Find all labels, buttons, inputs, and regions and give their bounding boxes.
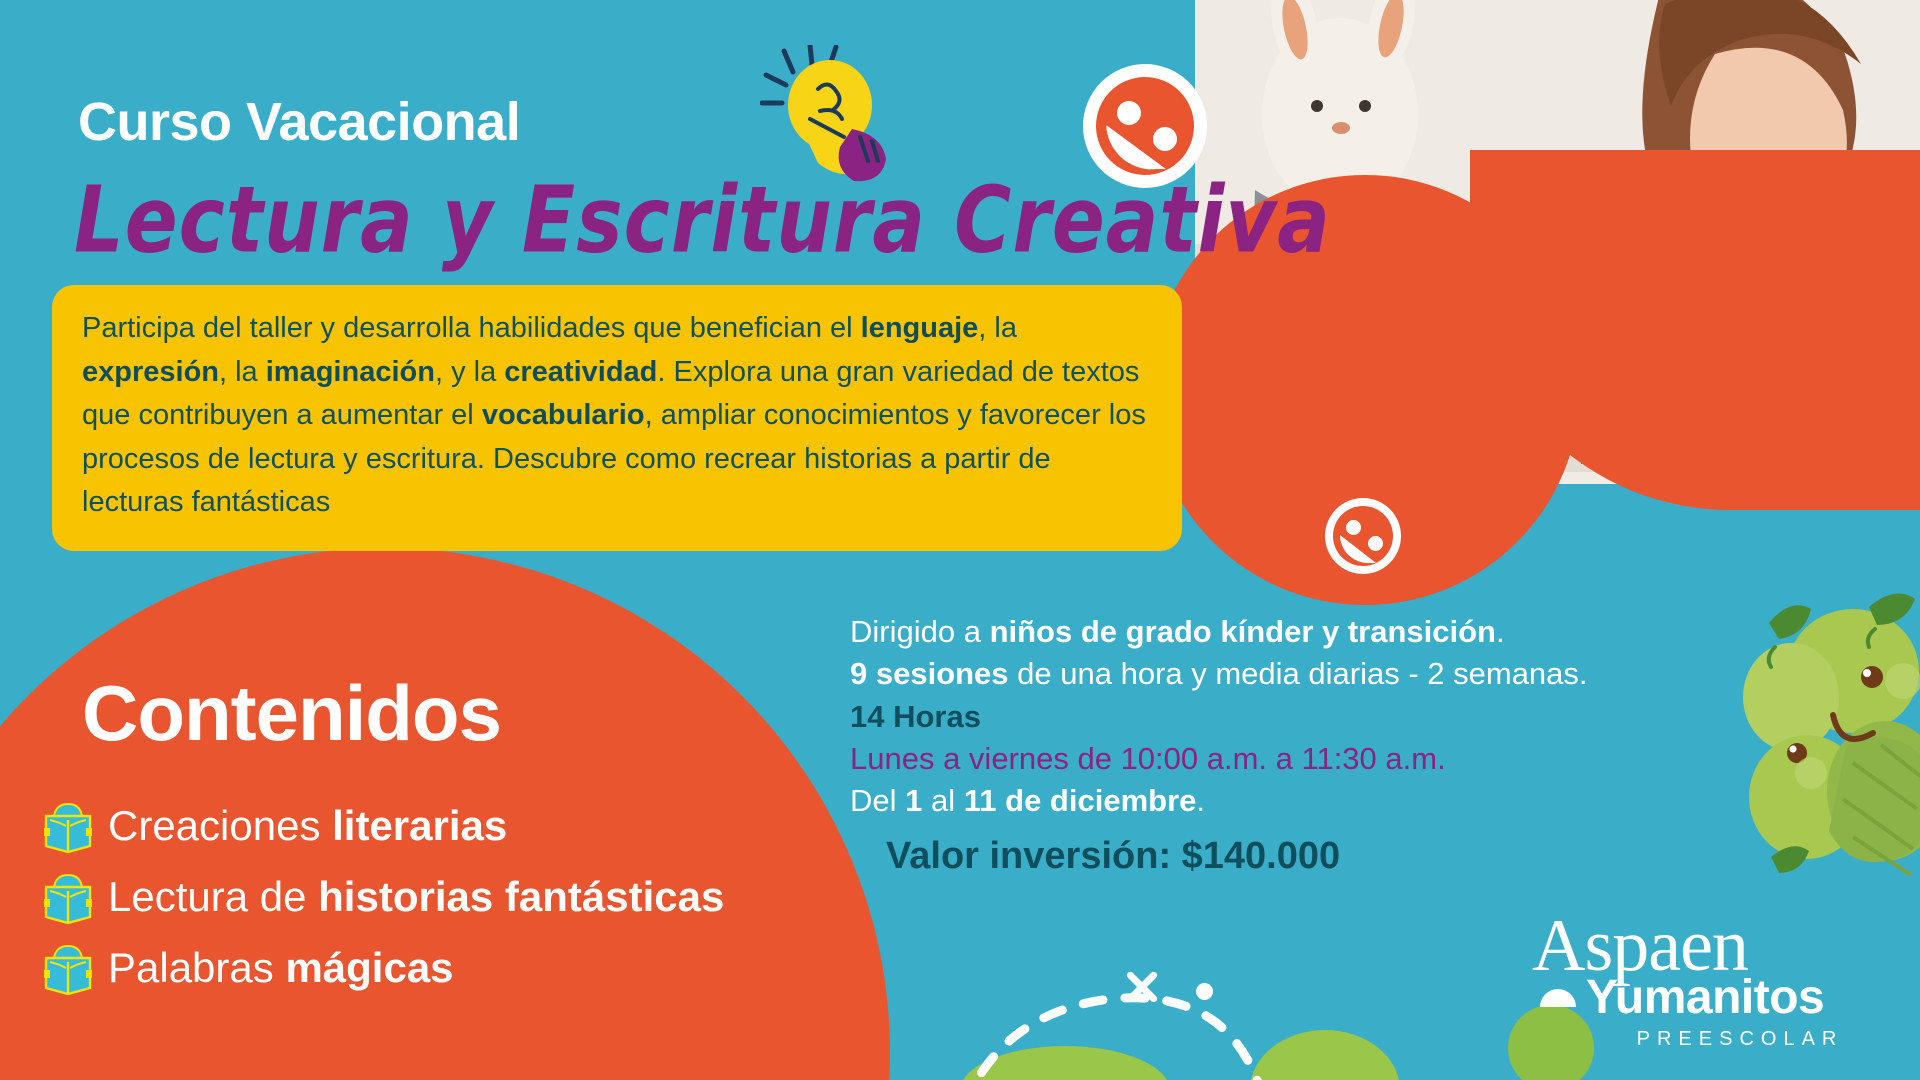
contenidos-heading: Contenidos [82,674,501,752]
detail-line-schedule: Lunes a viernes de 10:00 a.m. a 11:30 a.… [850,739,1770,779]
list-item-label: Palabras mágicas [108,947,454,989]
brand-tagline: PREESCOLAR [1532,1028,1882,1051]
green-character-mascot [1735,585,1920,885]
page-title: Lectura y Escritura Creativa [74,175,1331,267]
course-details: Dirigido a niños de grado kínder y trans… [850,612,1770,878]
price-label: Valor inversión: $140.000 [886,835,1770,878]
list-item: Lectura de historias fantásticas [42,866,902,928]
dashed-arc-decoration [940,975,1270,1080]
description-callout: Participa del taller y desarrolla habili… [52,285,1182,551]
detail-line-dates: Del 1 al 11 de diciembre. [850,781,1770,821]
detail-line-sessions: 9 sesiones de una hora y media diarias -… [850,654,1770,694]
lightbulb-icon [760,45,910,185]
open-book-icon [42,869,94,925]
list-item: Creaciones literarias [42,795,902,857]
brand-logo: Aspaen Yumanitos PREESCOLAR [1532,912,1882,1051]
half-circle-icon [1540,989,1576,1007]
detail-line-audience: Dirigido a niños de grado kínder y trans… [850,612,1770,652]
page-kicker: Curso Vacacional [78,95,520,149]
sparkle-dot-icon [1196,983,1213,1000]
contenidos-list: Creaciones literarias Lectura de histori… [42,795,902,1008]
green-shape-decoration [1250,1030,1400,1080]
list-item-label: Lectura de historias fantásticas [108,876,724,918]
open-book-icon [42,940,94,996]
open-book-icon [42,798,94,854]
description-text: Participa del taller y desarrolla habili… [82,307,1154,525]
list-item-label: Creaciones literarias [108,805,507,847]
poster-canvas: Curso Vacacional Lectura y Escritura Cre… [0,0,1920,1080]
brand-sub-name: Yumanitos [1586,974,1824,1022]
brand-name: Aspaen [1532,912,1882,980]
smiley-face-logo [1325,498,1401,574]
sparkle-x-icon [1120,965,1164,1009]
list-item: Palabras mágicas [42,937,902,999]
detail-line-hours: 14 Horas [850,697,1770,737]
